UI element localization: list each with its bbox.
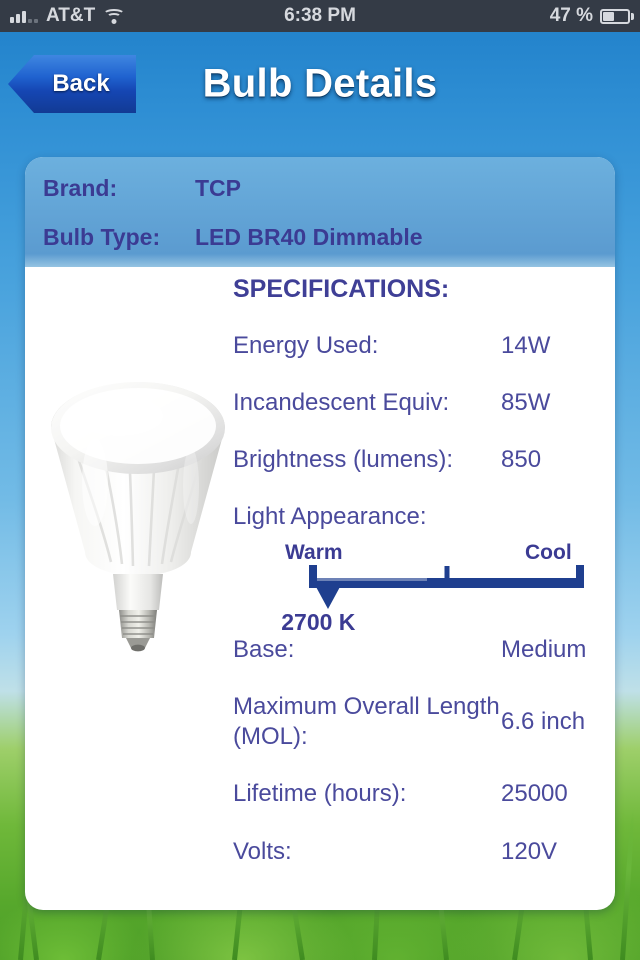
light-appearance-label: Light Appearance:	[233, 503, 601, 531]
status-bar-right: 47 %	[356, 5, 640, 27]
battery-percent-label: 47 %	[550, 5, 593, 27]
slider-track-end-right	[576, 565, 584, 579]
status-bar-left: AT&T	[0, 5, 284, 27]
slider-track-end-left	[309, 565, 317, 579]
app-screen: AT&T 6:38 PM 47 % Back Bulb Details Bran…	[0, 0, 640, 960]
brand-label: Brand:	[43, 175, 195, 202]
spec-value: 850	[501, 445, 541, 475]
signal-bars-icon	[10, 9, 38, 23]
bulb-type-value: LED BR40 Dimmable	[195, 224, 423, 251]
spec-label: Base:	[233, 635, 501, 665]
slider-warm-label: Warm	[285, 541, 343, 565]
navigation-bar: Back Bulb Details	[0, 32, 640, 132]
spec-value: 6.6 inch	[501, 707, 585, 737]
bulb-type-row: Bulb Type: LED BR40 Dimmable	[43, 224, 615, 251]
spec-label: Volts:	[233, 837, 501, 867]
slider-track-gloss	[317, 578, 427, 581]
carrier-label: AT&T	[46, 5, 95, 27]
specifications-section: SPECIFICATIONS: Energy Used: 14W Incande…	[233, 275, 601, 894]
spec-row-brightness: Brightness (lumens): 850	[233, 445, 601, 475]
slider-midpoint-tick	[444, 566, 449, 579]
spec-label: Maximum Overall Length (MOL):	[233, 692, 501, 752]
spec-row-lifetime: Lifetime (hours): 25000	[233, 779, 601, 809]
spec-value: Medium	[501, 635, 586, 665]
slider-cool-label: Cool	[525, 541, 572, 565]
spec-value: 85W	[501, 388, 550, 418]
spec-value: 120V	[501, 837, 557, 867]
led-br40-reflector-bulb-image	[33, 362, 243, 652]
bulb-details-card: Brand: TCP Bulb Type: LED BR40 Dimmable	[25, 157, 615, 910]
wifi-icon	[103, 8, 125, 24]
light-appearance-section: Light Appearance: Warm Cool 2700 K	[233, 503, 601, 629]
slider-track	[309, 578, 584, 588]
card-header: Brand: TCP Bulb Type: LED BR40 Dimmable	[25, 157, 615, 267]
spec-label: Incandescent Equiv:	[233, 388, 501, 418]
spec-value: 14W	[501, 331, 550, 361]
specifications-title: SPECIFICATIONS:	[233, 275, 601, 304]
spec-label: Energy Used:	[233, 331, 501, 361]
status-bar: AT&T 6:38 PM 47 %	[0, 0, 640, 32]
spec-row-base: Base: Medium	[233, 635, 601, 665]
page-title: Bulb Details	[0, 62, 640, 107]
spec-label: Brightness (lumens):	[233, 445, 501, 475]
clock-label: 6:38 PM	[284, 5, 356, 27]
battery-icon	[600, 9, 630, 24]
spec-row-max-overall-length: Maximum Overall Length (MOL): 6.6 inch	[233, 692, 601, 752]
spec-value: 25000	[501, 779, 568, 809]
spec-row-incandescent-equiv: Incandescent Equiv: 85W	[233, 388, 601, 418]
brand-value: TCP	[195, 175, 241, 202]
slider-kelvin-value: 2700 K	[281, 609, 355, 636]
card-body: SPECIFICATIONS: Energy Used: 14W Incande…	[25, 267, 615, 910]
slider-marker-triangle-icon	[315, 585, 341, 609]
spec-row-volts: Volts: 120V	[233, 837, 601, 867]
bulb-type-label: Bulb Type:	[43, 224, 195, 251]
spec-label: Lifetime (hours):	[233, 779, 501, 809]
spec-row-energy-used: Energy Used: 14W	[233, 331, 601, 361]
color-temperature-slider[interactable]: Warm Cool 2700 K	[263, 541, 601, 629]
brand-row: Brand: TCP	[43, 175, 615, 202]
